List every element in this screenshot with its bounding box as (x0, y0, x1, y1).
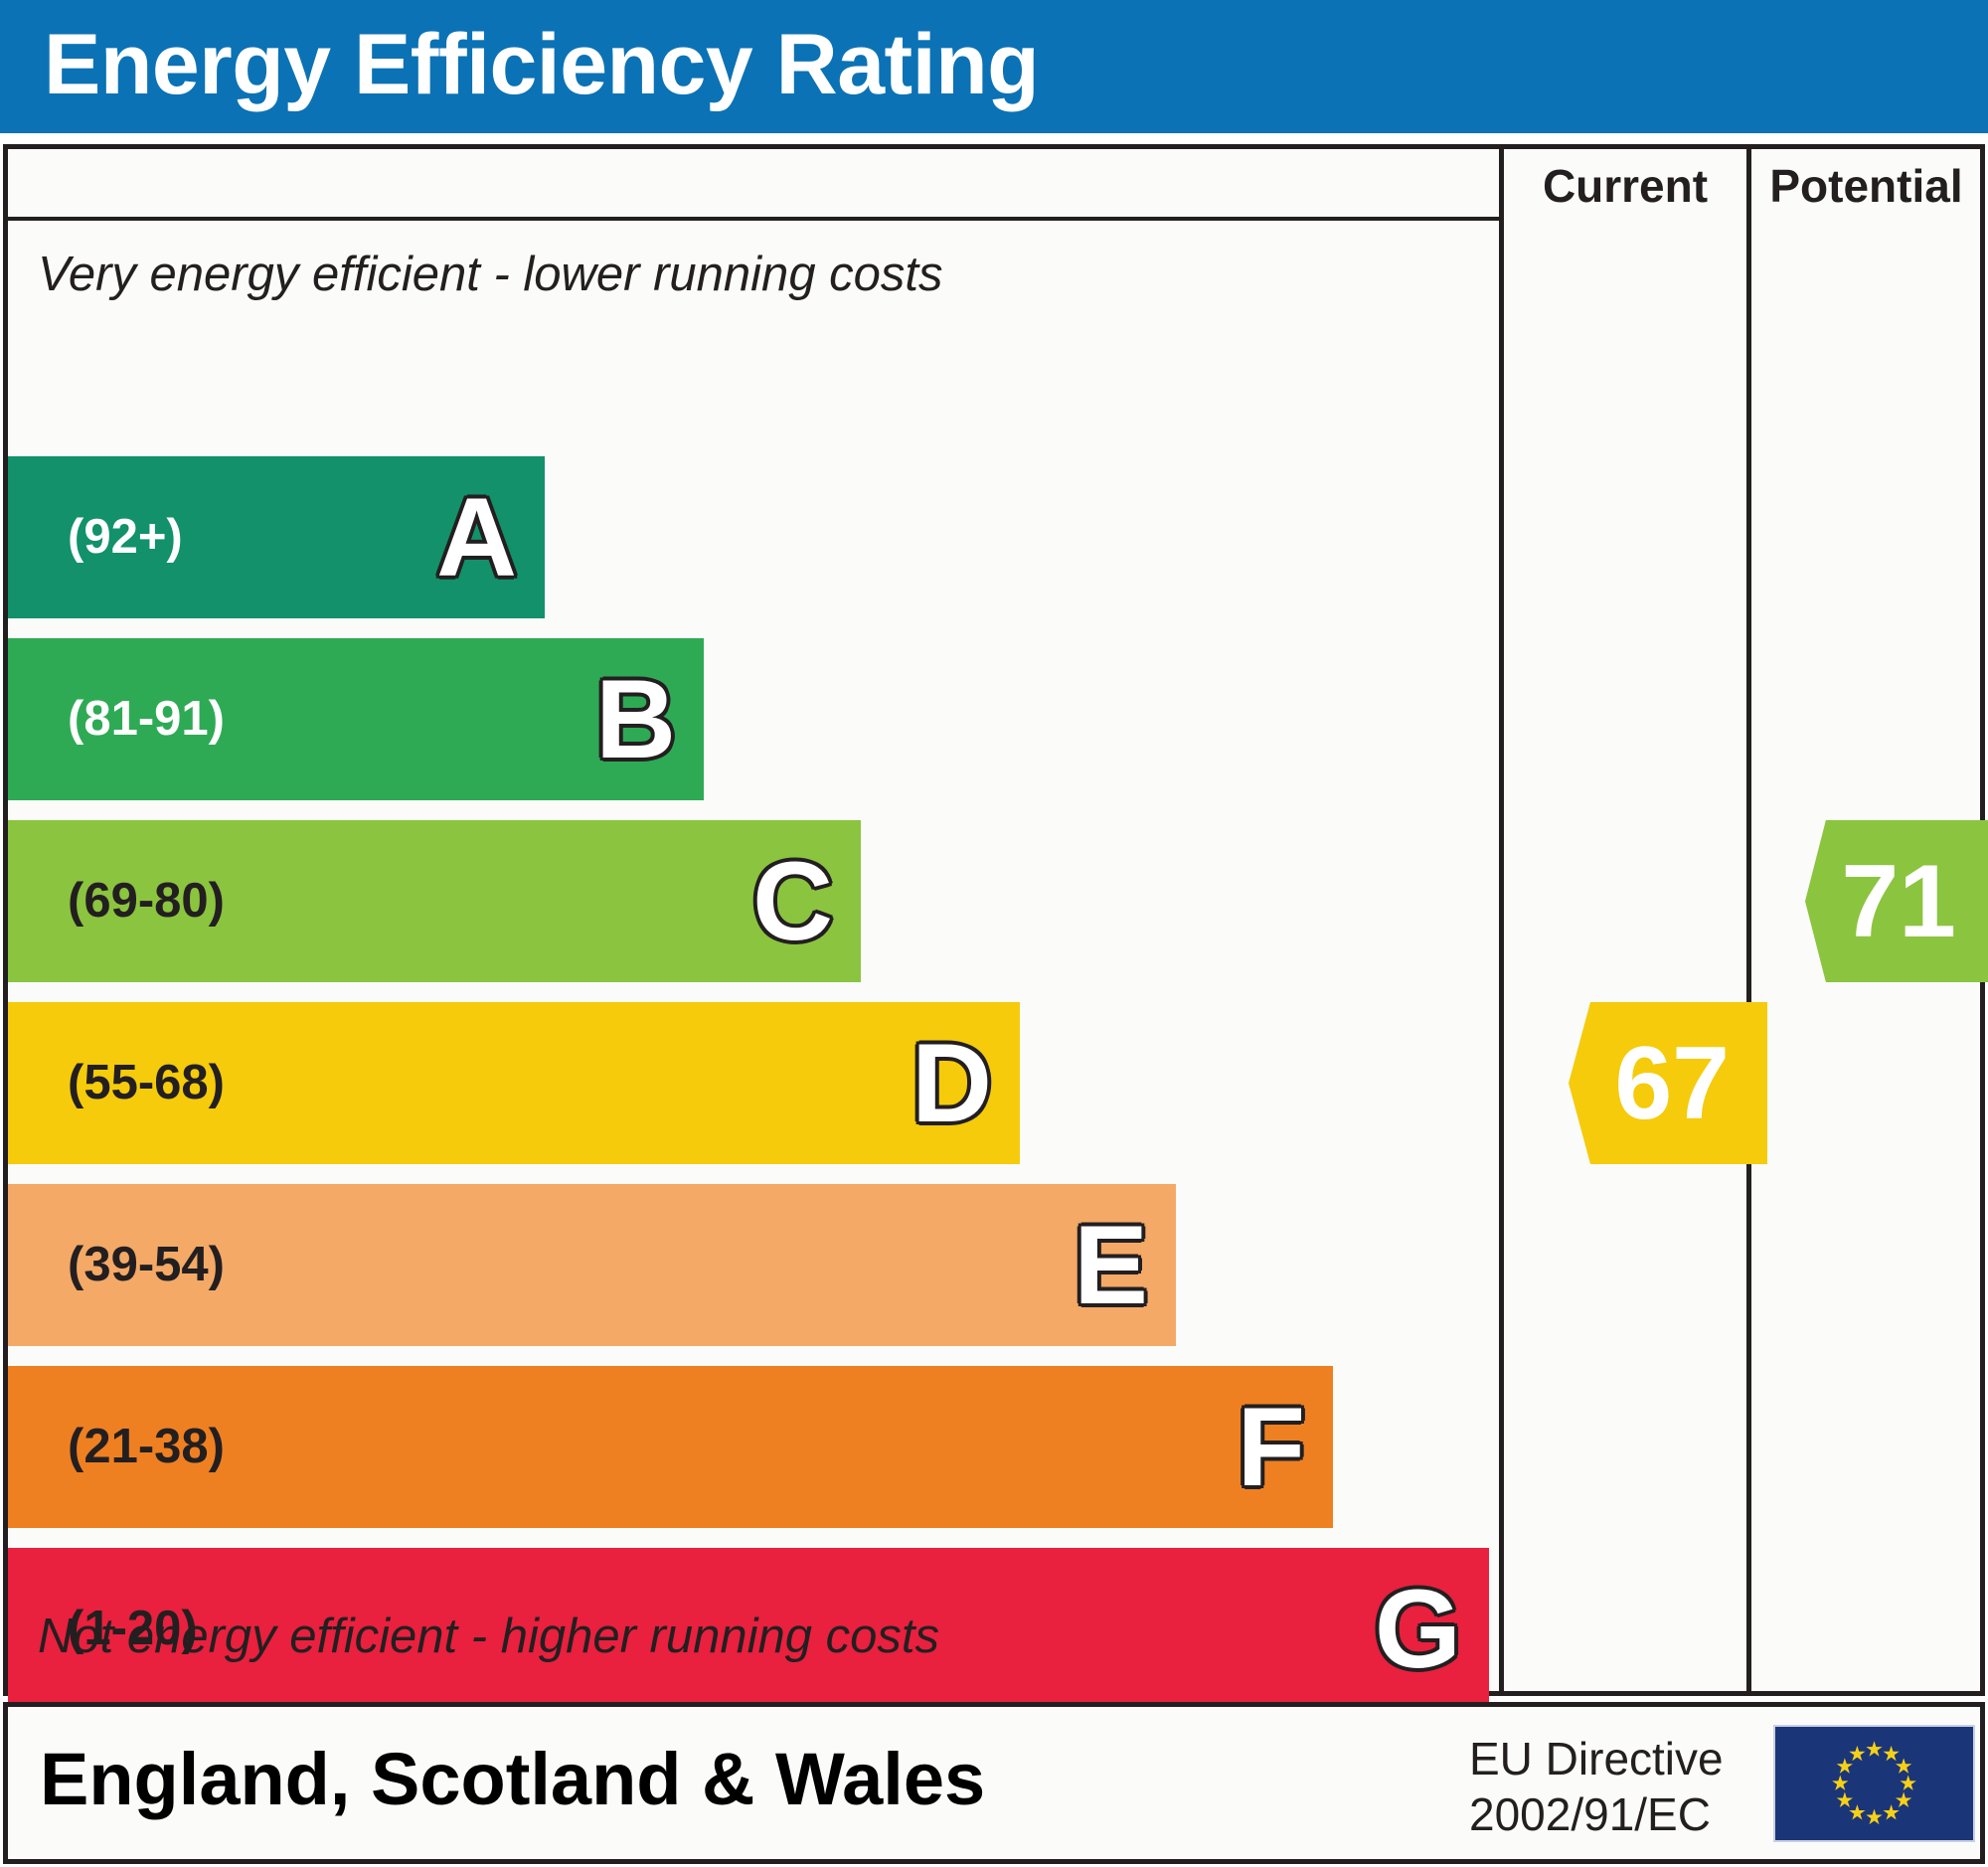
eu-directive-text: EU Directive 2002/91/EC (1469, 1731, 1724, 1842)
caption-top: Very energy efficient - lower running co… (38, 251, 943, 299)
potential-rating-arrow: 71 (1805, 820, 1988, 982)
band-range-c: (69-80) (68, 877, 225, 926)
band-row-a: (92+) A (8, 456, 545, 618)
band-range-f: (21-38) (68, 1423, 225, 1471)
potential-rating-value: 71 (1841, 850, 1988, 953)
band-letter-b: B (595, 664, 676, 775)
column-divider-current (1499, 149, 1504, 1691)
band-letter-g: G (1375, 1574, 1461, 1685)
page-title: Energy Efficiency Rating (44, 22, 1039, 107)
column-divider-potential (1746, 149, 1751, 1691)
potential-rating-marker: 71 (1805, 820, 1988, 982)
band-letter-d: D (911, 1028, 992, 1139)
band-row-f: (21-38) F (8, 1366, 1333, 1528)
caption-bottom: Not energy efficient - higher running co… (38, 1612, 939, 1661)
band-range-d: (55-68) (68, 1059, 225, 1107)
title-bar: Energy Efficiency Rating (0, 0, 1988, 133)
band-row-c: (69-80) C (8, 820, 861, 982)
column-header-current: Current (1504, 155, 1746, 217)
band-range-b: (81-91) (68, 695, 225, 744)
current-rating-value: 67 (1614, 1032, 1767, 1135)
eu-directive-line1: EU Directive (1469, 1731, 1724, 1786)
epc-certificate: Energy Efficiency Rating Current Potenti… (0, 0, 1988, 1867)
band-row-d: (55-68) D (8, 1002, 1020, 1164)
band-range-e: (39-54) (68, 1241, 225, 1289)
band-letter-a: A (436, 482, 517, 594)
band-letter-e: E (1074, 1210, 1148, 1321)
current-rating-arrow: 67 (1569, 1002, 1767, 1164)
footer-bar: England, Scotland & Wales EU Directive 2… (3, 1702, 1985, 1864)
eu-directive-line2: 2002/91/EC (1469, 1786, 1724, 1842)
band-range-a: (92+) (68, 513, 183, 562)
band-letter-c: C (752, 846, 833, 957)
band-letter-f: F (1238, 1392, 1305, 1503)
band-row-b: (81-91) B (8, 638, 704, 800)
region-label: England, Scotland & Wales (40, 1737, 985, 1821)
band-row-e: (39-54) E (8, 1184, 1176, 1346)
current-rating-marker: 67 (1569, 1002, 1767, 1164)
efficiency-scale: Very energy efficient - lower running co… (8, 221, 1499, 1697)
rating-chart-box: Current Potential Very energy efficient … (3, 144, 1985, 1696)
eu-flag-icon (1773, 1725, 1975, 1842)
column-header-potential: Potential (1751, 155, 1981, 217)
